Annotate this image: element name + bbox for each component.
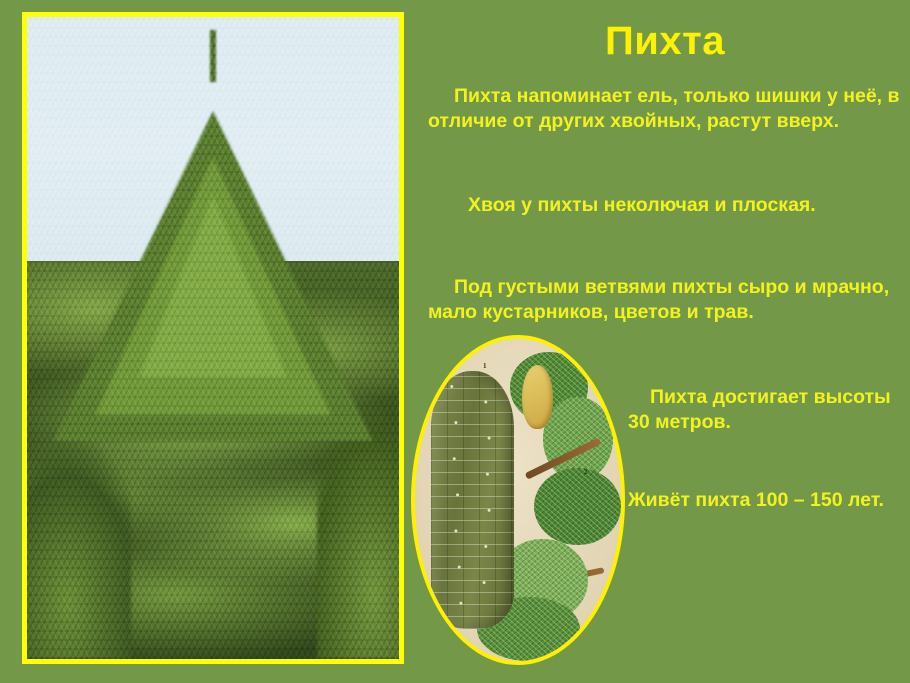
page-title: Пихта [430, 20, 900, 62]
slide-root: 1 2 Пихта Пихта напоминает ель, только ш… [0, 0, 910, 683]
cone-scales [431, 371, 513, 629]
paragraph-understory: Под густыми ветвями пихты сыро и мрачно,… [428, 275, 906, 326]
photo-canvas [27, 17, 399, 659]
paragraph-lifespan: Живёт пихта 100 – 150 лет. [628, 488, 908, 513]
fir-cone [431, 371, 513, 629]
paragraph-intro: Пихта напоминает ель, только шишки у неё… [428, 84, 906, 135]
illustration-label-2: 2 [584, 468, 588, 476]
fir-botanical-illustration: 1 2 [411, 335, 625, 665]
fir-tree-leader [210, 30, 216, 82]
fir-tree-photo [22, 12, 404, 664]
illustration-label-1: 1 [483, 362, 487, 370]
paragraph-needles: Хвоя у пихты неколючая и плоская. [428, 193, 906, 218]
fir-tree-toplayer [139, 195, 287, 377]
illustration-canvas: 1 2 [415, 339, 621, 661]
needle-cluster-3 [534, 468, 621, 545]
male-catkin [522, 365, 553, 429]
paragraph-height: Пихта достигает высоты 30 метров. [628, 385, 906, 436]
